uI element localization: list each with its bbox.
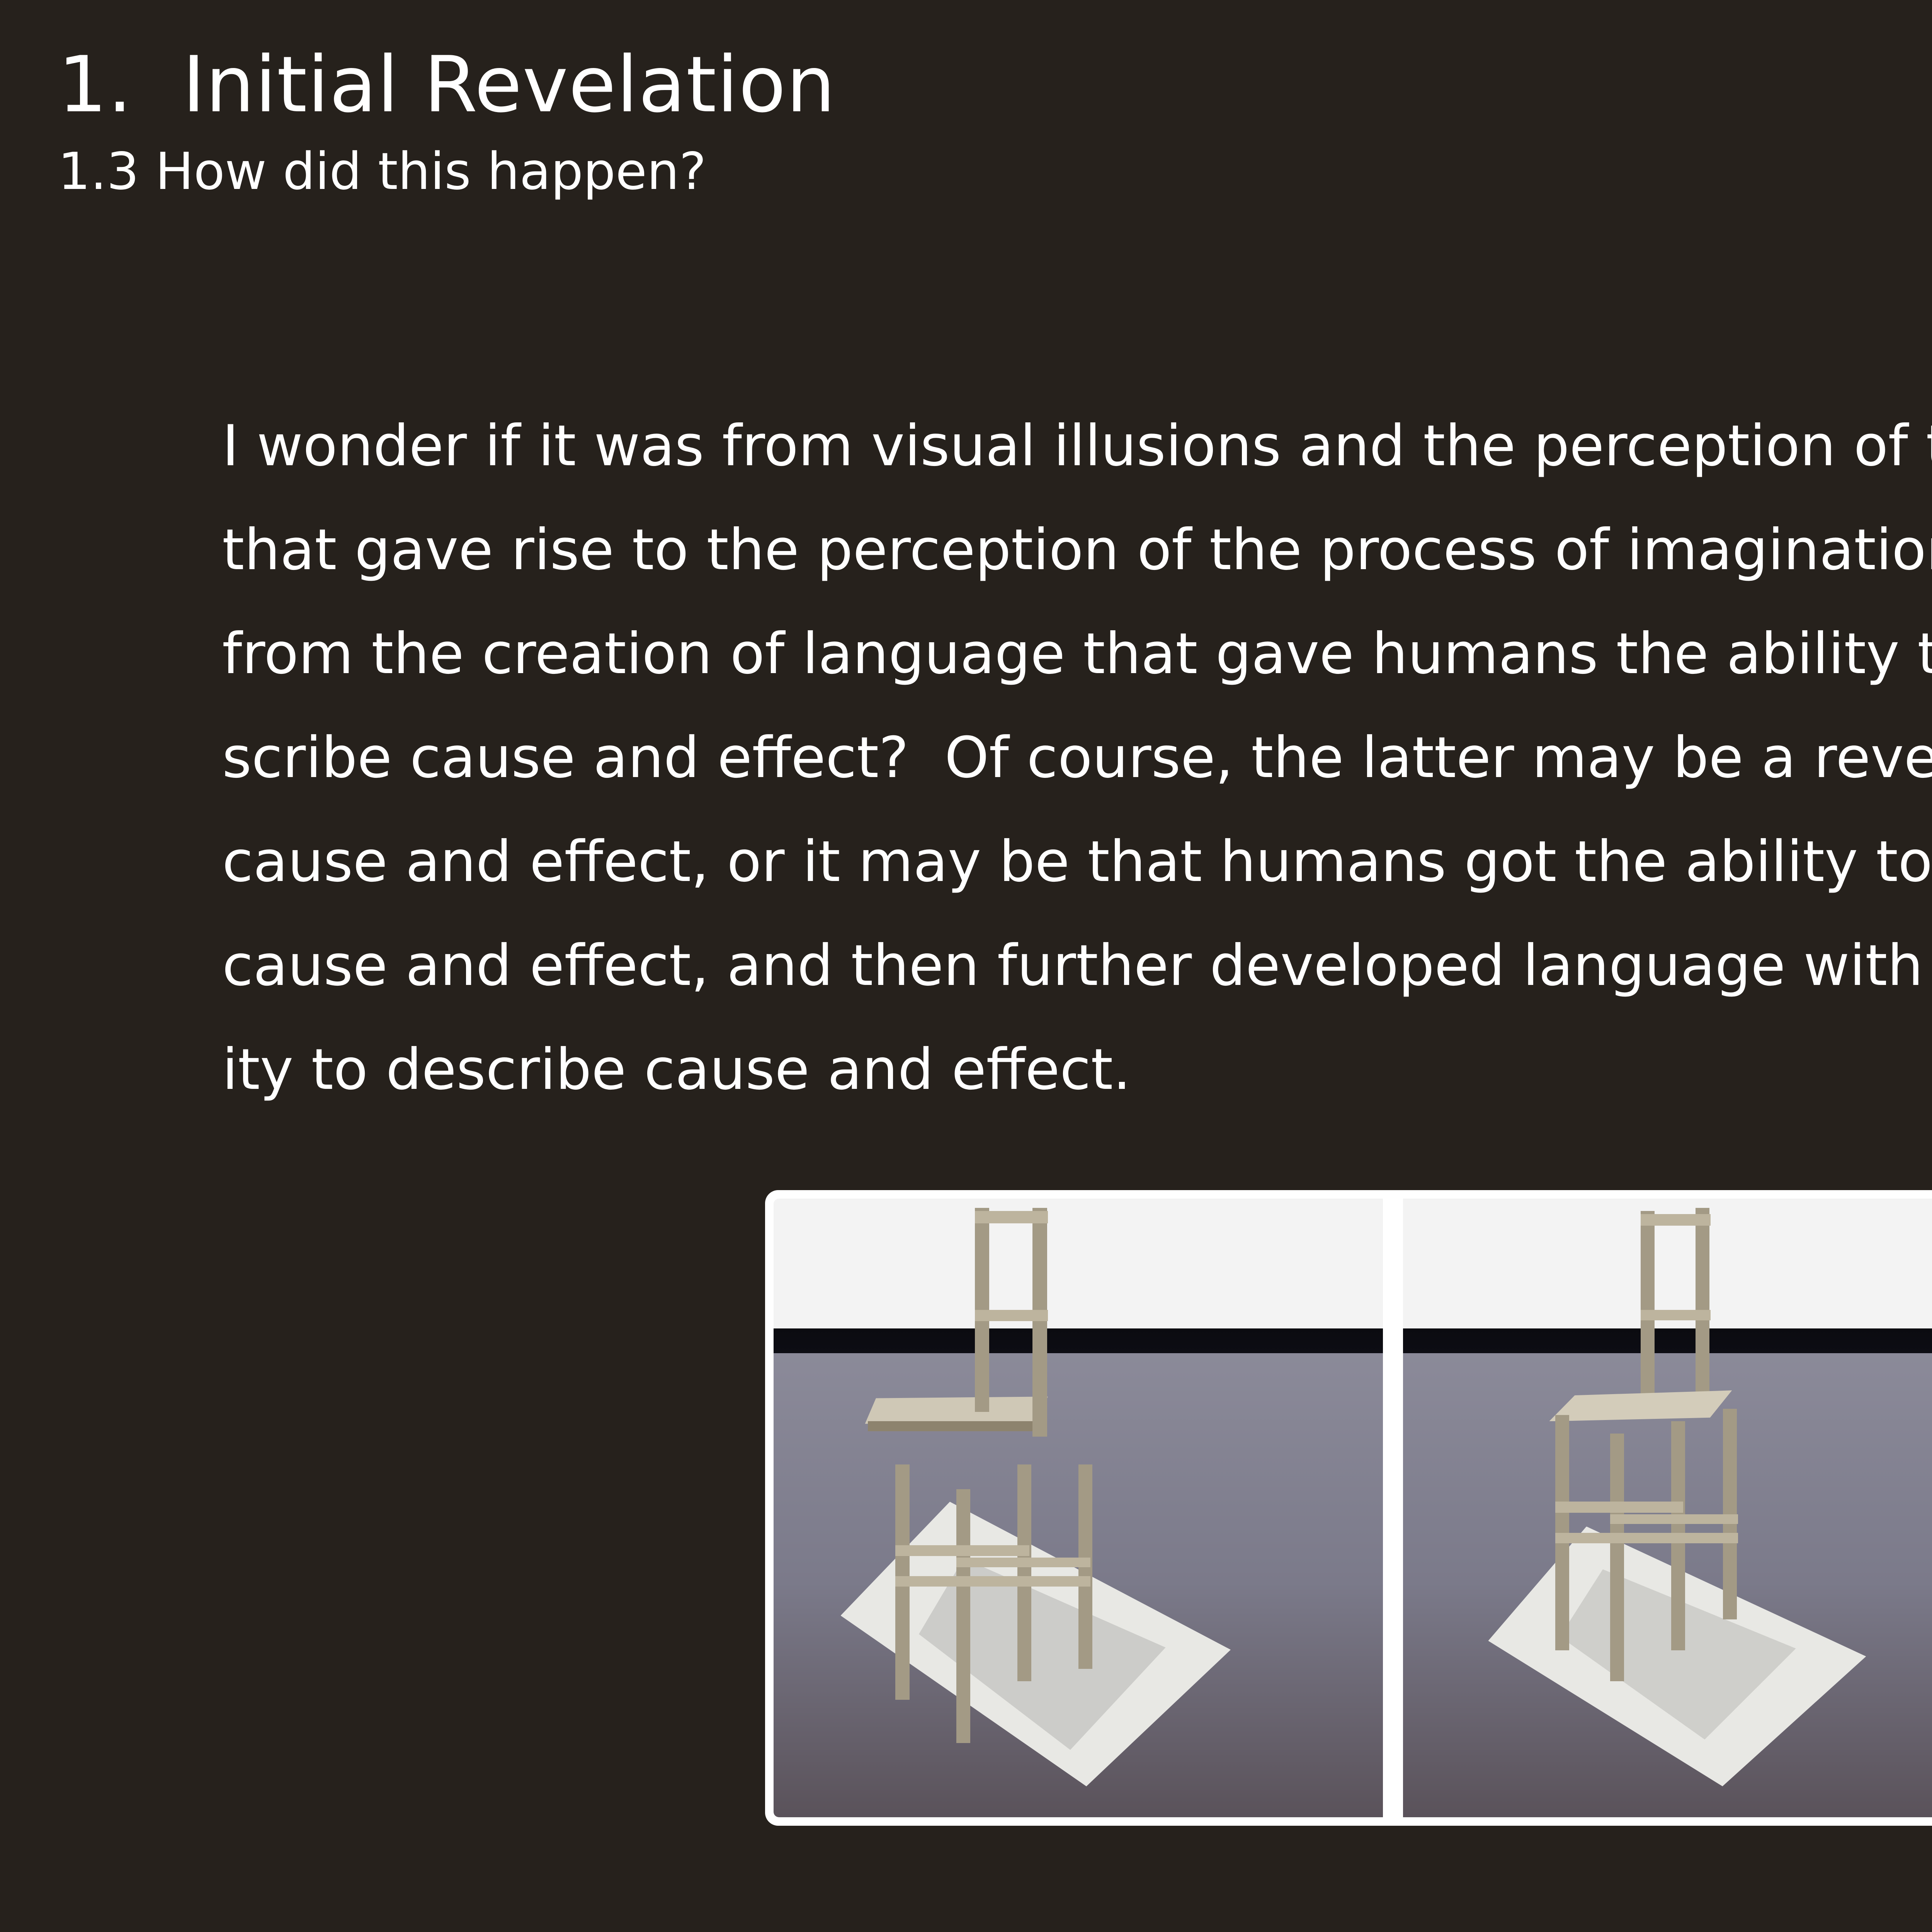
beamer-slide: 1. Initial Revelation 1.3 How did this h… (0, 0, 1932, 1932)
photo-left-view (774, 1199, 1383, 1817)
illusion-figure (765, 1190, 1932, 1826)
body-line-text: from the creation of language that gave … (222, 602, 1932, 706)
body-line-text: that gave rise to the perception of the … (222, 498, 1932, 602)
slide-header: 1. Initial Revelation 1.3 How did this h… (58, 46, 1932, 197)
body-line-text: cause and effect, and then further devel… (222, 914, 1932, 1018)
page-title: 1. Initial Revelation (58, 46, 1932, 124)
photo-right-view (1403, 1199, 1932, 1817)
body-line-text: I wonder if it was from visual illusions… (222, 394, 1932, 498)
body-line-text: scribe cause and effect? Of course, the … (222, 706, 1932, 810)
body-line: cause and effect, or it may be that huma… (222, 810, 1932, 914)
body-line: scribe cause and effect? Of course, the … (222, 706, 1932, 810)
body-line: that gave rise to the perception of the … (222, 498, 1932, 602)
body-line: cause and effect, and then further devel… (222, 914, 1932, 1018)
photo-divider (1383, 1199, 1403, 1817)
body-line: from the creation of language that gave … (222, 602, 1932, 706)
slide-subtitle: 1.3 How did this happen? (58, 146, 1932, 197)
slide-body-paragraph: I wonder if it was from visual illusions… (222, 394, 1932, 1122)
body-line: ity to describe cause and effect. (222, 1018, 1932, 1122)
body-line-text: cause and effect, or it may be that huma… (222, 810, 1932, 914)
body-line: I wonder if it was from visual illusions… (222, 394, 1932, 498)
figure-photos (774, 1199, 1932, 1817)
